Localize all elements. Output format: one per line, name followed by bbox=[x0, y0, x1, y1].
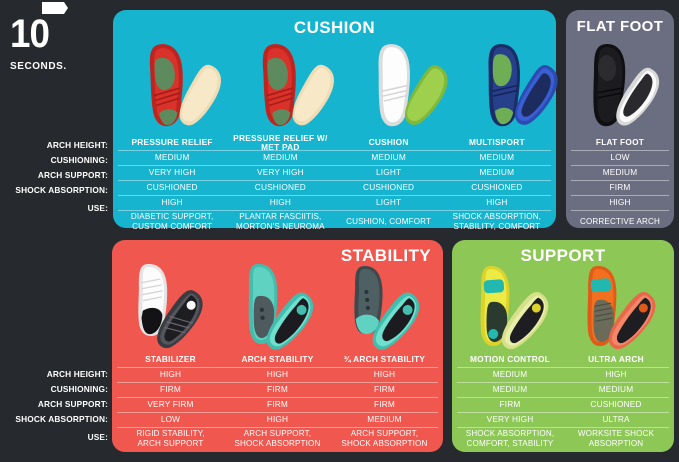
cell-arch-support: CUSHIONED bbox=[226, 180, 334, 195]
table-flat-foot: FLAT FOOT LOW MEDIUM FIRM HIGH CORRECTIV… bbox=[571, 136, 669, 232]
cell-arch-height: MEDIUM bbox=[443, 150, 551, 165]
cell-arch-height: MEDIUM bbox=[226, 150, 334, 165]
row-label-use: USE: bbox=[0, 197, 108, 219]
panel-title-support: SUPPORT bbox=[452, 246, 674, 266]
insole-comparison-chart: 10 SECONDS. ARCH HEIGHT: CUSHIONING: ARC… bbox=[0, 0, 679, 462]
cell-arch-height: MEDIUM bbox=[457, 367, 563, 382]
table-cushion: PRESSURE RELIEF MEDIUM VERY HIGH CUSHION… bbox=[118, 136, 551, 232]
column-header: PRESSURE RELIEF bbox=[118, 136, 226, 150]
logo-mark: 10 bbox=[10, 14, 80, 58]
cell-cushioning: MEDIUM bbox=[443, 165, 551, 180]
cell-shock-absorption: ULTRA bbox=[563, 412, 669, 427]
cell-arch-support: CUSHIONED bbox=[443, 180, 551, 195]
cell-arch-support: FIRM bbox=[457, 397, 563, 412]
row-label-cushioning: CUSHIONING: bbox=[0, 152, 108, 167]
cell-cushioning: MEDIUM bbox=[571, 165, 669, 180]
logo-tagline: SECONDS. bbox=[10, 60, 97, 72]
panel-title-flat-foot: FLAT FOOT bbox=[566, 18, 674, 35]
cell-arch-support: VERY FIRM bbox=[117, 397, 224, 412]
column-header: STABILIZER bbox=[117, 353, 224, 367]
cell-cushioning: MEDIUM bbox=[457, 382, 563, 397]
cell-arch-support: CUSHIONED bbox=[563, 397, 669, 412]
cell-arch-height: HIGH bbox=[224, 367, 331, 382]
column-motion-control: MOTION CONTROL MEDIUM MEDIUM FIRM VERY H… bbox=[457, 353, 563, 449]
cell-cushioning: FIRM bbox=[331, 382, 438, 397]
column-three-quarter-arch-stability: ¾ ARCH STABILITY HIGH FIRM FIRM MEDIUM A… bbox=[331, 353, 438, 449]
insole-art-flat-foot bbox=[566, 40, 674, 132]
cell-cushioning: FIRM bbox=[117, 382, 224, 397]
cell-arch-height: MEDIUM bbox=[118, 150, 226, 165]
column-ultra-arch: ULTRA ARCH HIGH MEDIUM CUSHIONED ULTRA W… bbox=[563, 353, 669, 449]
cell-use: PLANTAR FASCIITIS, MORTON'S NEUROMA bbox=[226, 210, 334, 232]
cell-shock-absorption: MEDIUM bbox=[331, 412, 438, 427]
cell-shock-absorption: HIGH bbox=[224, 412, 331, 427]
cell-arch-support: FIRM bbox=[571, 180, 669, 195]
panel-stability: STABILITY bbox=[112, 240, 443, 452]
logo-number: 10 bbox=[10, 14, 74, 54]
table-stability: STABILIZER HIGH FIRM VERY FIRM LOW RIGID… bbox=[117, 353, 438, 449]
cell-use: CORRECTIVE ARCH bbox=[571, 210, 669, 232]
column-arch-stability: ARCH STABILITY HIGH FIRM FIRM HIGH ARCH … bbox=[224, 353, 331, 449]
cell-shock-absorption: HIGH bbox=[118, 195, 226, 210]
column-cushion: CUSHION MEDIUM LIGHT CUSHIONED LIGHT CUS… bbox=[335, 136, 443, 232]
brand-logo: 10 SECONDS. bbox=[10, 14, 102, 78]
insole-art-support bbox=[452, 264, 674, 354]
panel-flat-foot: FLAT FOOT bbox=[566, 10, 674, 228]
cell-arch-height: HIGH bbox=[563, 367, 669, 382]
cell-arch-support: FIRM bbox=[331, 397, 438, 412]
panel-title-cushion: CUSHION bbox=[113, 18, 556, 38]
row-label-shock-absorption-2: SHOCK ABSORPTION: bbox=[0, 411, 108, 426]
column-header: ULTRA ARCH bbox=[563, 353, 669, 367]
cell-shock-absorption: LOW bbox=[117, 412, 224, 427]
cell-shock-absorption: LIGHT bbox=[335, 195, 443, 210]
row-label-arch-height: ARCH HEIGHT: bbox=[0, 137, 108, 152]
cell-shock-absorption: HIGH bbox=[443, 195, 551, 210]
cell-cushioning: VERY HIGH bbox=[226, 165, 334, 180]
cell-use: SHOCK ABSORPTION, COMFORT, STABILITY bbox=[457, 427, 563, 449]
row-label-shock-absorption: SHOCK ABSORPTION: bbox=[0, 182, 108, 197]
row-label-arch-support: ARCH SUPPORT: bbox=[0, 167, 108, 182]
cell-use: SHOCK ABSORPTION, STABILITY, COMFORT bbox=[443, 210, 551, 232]
panel-cushion: CUSHION bbox=[113, 10, 556, 228]
cell-use: ARCH SUPPORT, SHOCK ABSORPTION bbox=[331, 427, 438, 449]
panel-support: SUPPORT bbox=[452, 240, 674, 452]
column-pressure-relief-met-pad: PRESSURE RELIEF W/ MET PAD MEDIUM VERY H… bbox=[226, 136, 334, 232]
cell-use: CUSHION, COMFORT bbox=[335, 210, 443, 232]
row-label-use-2: USE: bbox=[0, 426, 108, 448]
cell-arch-height: MEDIUM bbox=[335, 150, 443, 165]
cell-use: WORKSITE SHOCK ABSORPTION bbox=[563, 427, 669, 449]
cell-cushioning: LIGHT bbox=[335, 165, 443, 180]
cell-arch-support: FIRM bbox=[224, 397, 331, 412]
column-header: ARCH STABILITY bbox=[224, 353, 331, 367]
row-label-cushioning-2: CUSHIONING: bbox=[0, 381, 108, 396]
cell-arch-height: HIGH bbox=[117, 367, 224, 382]
cell-use: ARCH SUPPORT, SHOCK ABSORPTION bbox=[224, 427, 331, 449]
column-header: MOTION CONTROL bbox=[457, 353, 563, 367]
column-header: ¾ ARCH STABILITY bbox=[331, 353, 438, 367]
column-stabilizer: STABILIZER HIGH FIRM VERY FIRM LOW RIGID… bbox=[117, 353, 224, 449]
row-labels-bottom: ARCH HEIGHT: CUSHIONING: ARCH SUPPORT: S… bbox=[0, 366, 108, 448]
column-header: PRESSURE RELIEF W/ MET PAD bbox=[226, 136, 334, 150]
table-support: MOTION CONTROL MEDIUM MEDIUM FIRM VERY H… bbox=[457, 353, 669, 449]
cell-arch-height: HIGH bbox=[331, 367, 438, 382]
cell-cushioning: MEDIUM bbox=[563, 382, 669, 397]
row-label-arch-support-2: ARCH SUPPORT: bbox=[0, 396, 108, 411]
cell-shock-absorption: VERY HIGH bbox=[457, 412, 563, 427]
cell-shock-absorption: HIGH bbox=[226, 195, 334, 210]
flag-icon bbox=[42, 1, 68, 16]
cell-use: RIGID STABILITY, ARCH SUPPORT bbox=[117, 427, 224, 449]
cell-shock-absorption: HIGH bbox=[571, 195, 669, 210]
cell-arch-height: LOW bbox=[571, 150, 669, 165]
column-pressure-relief: PRESSURE RELIEF MEDIUM VERY HIGH CUSHION… bbox=[118, 136, 226, 232]
row-label-arch-height-2: ARCH HEIGHT: bbox=[0, 366, 108, 381]
column-multisport: MULTISPORT MEDIUM MEDIUM CUSHIONED HIGH … bbox=[443, 136, 551, 232]
column-header: CUSHION bbox=[335, 136, 443, 150]
cell-arch-support: CUSHIONED bbox=[118, 180, 226, 195]
row-labels-top: ARCH HEIGHT: CUSHIONING: ARCH SUPPORT: S… bbox=[0, 137, 108, 219]
cell-use: DIABETIC SUPPORT, CUSTOM COMFORT bbox=[118, 210, 226, 232]
column-header: MULTISPORT bbox=[443, 136, 551, 150]
column-header: FLAT FOOT bbox=[571, 136, 669, 150]
cell-cushioning: VERY HIGH bbox=[118, 165, 226, 180]
insole-art-stability bbox=[112, 262, 443, 354]
cell-cushioning: FIRM bbox=[224, 382, 331, 397]
insole-art-cushion bbox=[113, 38, 556, 133]
cell-arch-support: CUSHIONED bbox=[335, 180, 443, 195]
column-flat-foot: FLAT FOOT LOW MEDIUM FIRM HIGH CORRECTIV… bbox=[571, 136, 669, 232]
